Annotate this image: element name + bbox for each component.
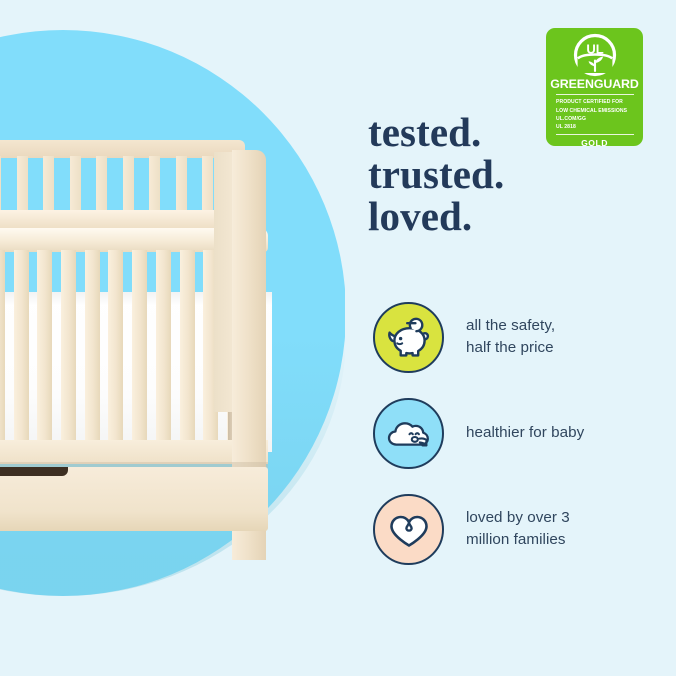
headline-line-2: trusted.	[368, 154, 504, 196]
piggy-bank-icon	[373, 302, 444, 373]
svg-text:UL: UL	[586, 42, 603, 57]
headline-line-1: tested.	[368, 112, 504, 154]
greenguard-badge: UL GREENGUARD PRODUCT CERTIFIED FOR LOW …	[546, 28, 643, 146]
ul-circle-leaf-icon: UL	[573, 33, 617, 77]
crib-product-image	[0, 140, 300, 560]
feature-loved-line-1: loved by over 3	[466, 507, 570, 529]
headline-line-3: loved.	[368, 196, 504, 238]
badge-cert-line-4: UL 2818	[556, 123, 643, 131]
feature-item-safety: all the safety, half the price	[373, 289, 663, 385]
crib-front-slats	[0, 250, 242, 446]
badge-wordmark: GREENGUARD	[546, 78, 643, 90]
promo-image: UL GREENGUARD PRODUCT CERTIFIED FOR LOW …	[0, 0, 676, 676]
badge-level-label: GOLD	[546, 138, 643, 148]
badge-divider-top	[556, 94, 634, 95]
crib-back-slats	[0, 156, 240, 212]
crib-storage-drawer	[0, 467, 268, 531]
feature-safety-line-1: all the safety,	[466, 315, 555, 337]
feature-healthier-line-1: healthier for baby	[466, 422, 584, 444]
feature-loved-line-2: million families	[466, 529, 570, 551]
feature-label-safety: all the safety, half the price	[466, 315, 555, 358]
badge-certification-text: PRODUCT CERTIFIED FOR LOW CHEMICAL EMISS…	[546, 98, 643, 131]
badge-divider-bottom	[556, 134, 634, 135]
badge-cert-line-3: UL.COM/GG	[556, 115, 643, 123]
feature-item-healthier: healthier for baby	[373, 385, 663, 481]
page-title: tested. trusted. loved.	[368, 112, 504, 237]
feature-label-healthier: healthier for baby	[466, 422, 584, 444]
crib-drawer-handle-notch	[0, 467, 68, 476]
feature-list: all the safety, half the price	[373, 289, 663, 577]
feature-label-loved: loved by over 3 million families	[466, 507, 570, 550]
feature-item-loved: loved by over 3 million families	[373, 481, 663, 577]
product-hero	[0, 0, 345, 676]
cloud-blowing-icon	[373, 398, 444, 469]
crib-front-rail-bottom	[0, 440, 268, 464]
heart-icon	[373, 494, 444, 565]
badge-cert-line-2: LOW CHEMICAL EMISSIONS	[556, 107, 643, 115]
feature-safety-line-2: half the price	[466, 337, 555, 359]
badge-cert-line-1: PRODUCT CERTIFIED FOR	[556, 98, 643, 106]
